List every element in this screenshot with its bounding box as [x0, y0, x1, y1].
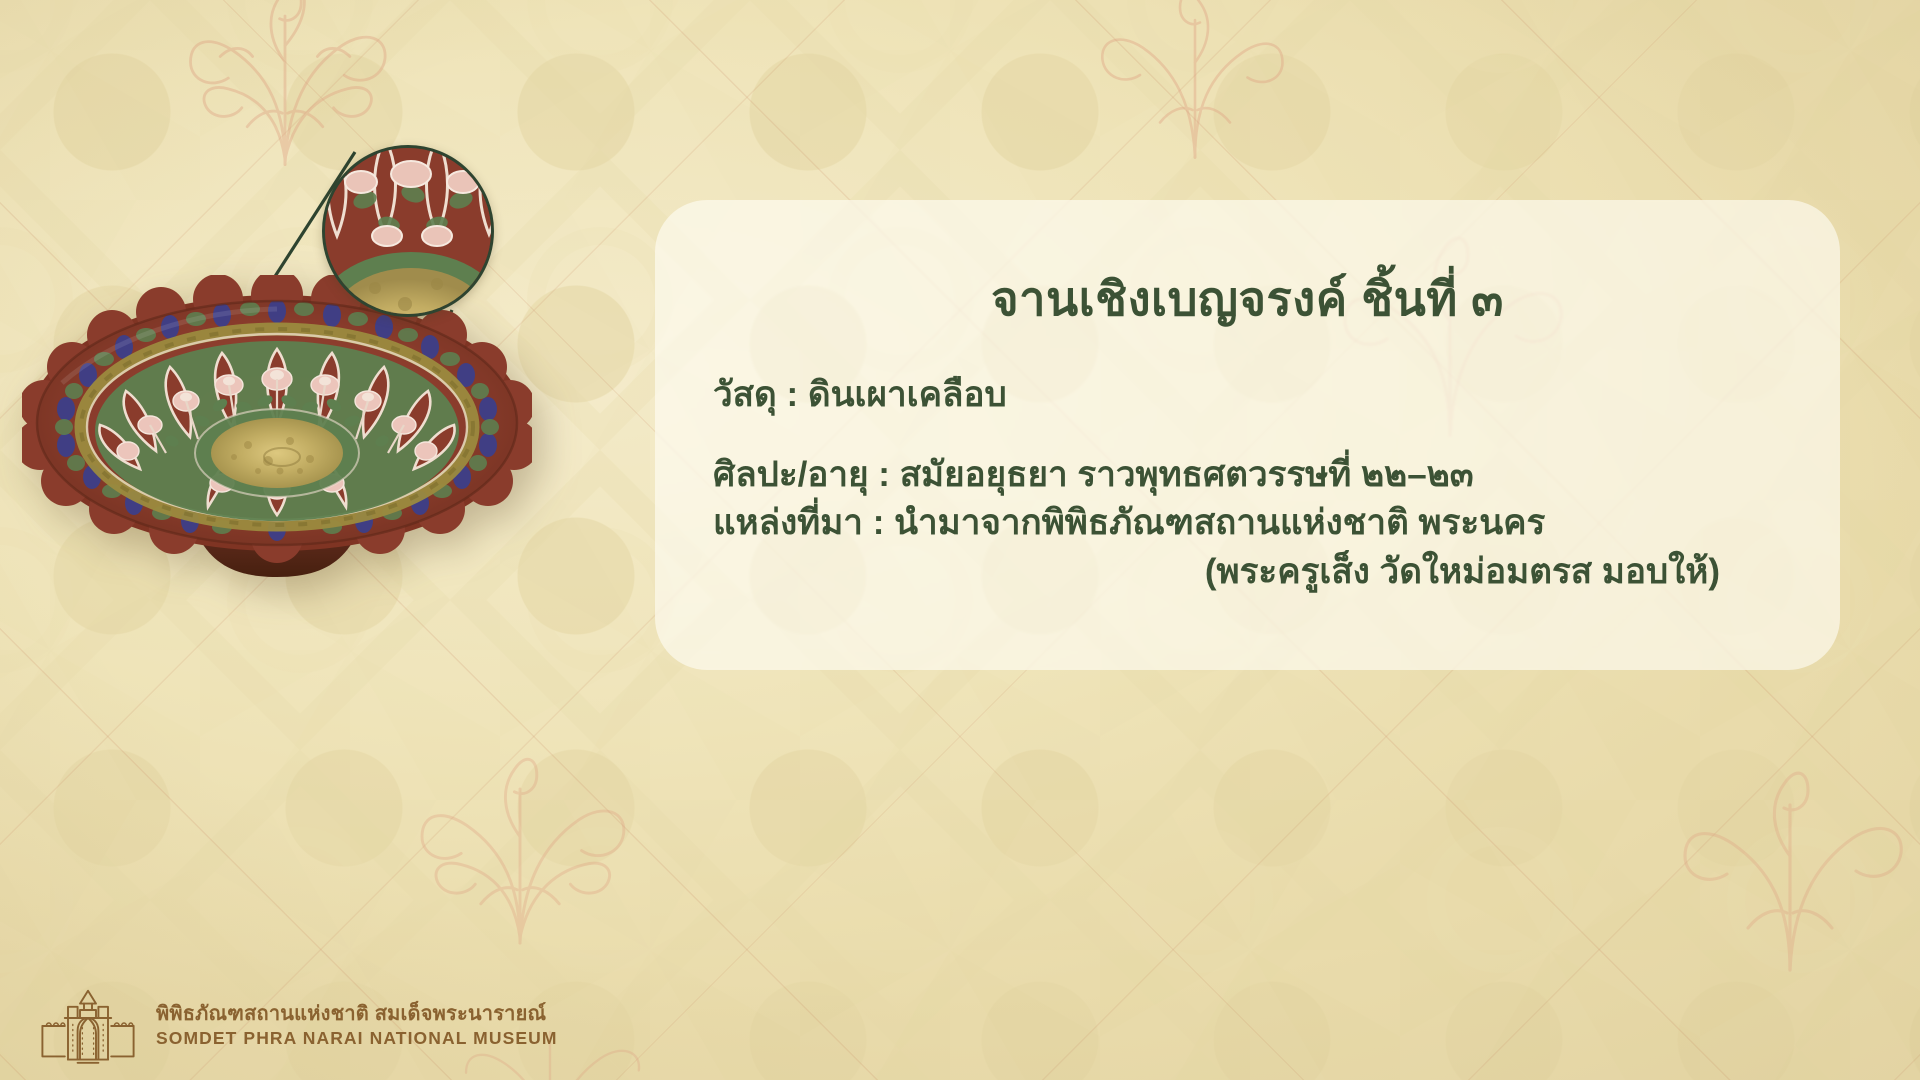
artifact-image-area [0, 60, 640, 760]
period-line: ศิลปะ/อายุ : สมัยอยุธยา ราวพุทธศตวรรษที่… [713, 451, 1782, 499]
detail-circle-content [325, 148, 494, 317]
center-medallion-detail-circle [322, 145, 494, 317]
museum-logo-text: พิพิธภัณฑสถานแห่งชาติ สมเด็จพระนารายณ์ S… [156, 1002, 558, 1050]
thai-gate-icon [36, 986, 140, 1066]
exhibit-slide: จานเชิงเบญจรงค์ ชิ้นที่ ๓ วัสดุ : ดินเผา… [0, 0, 1920, 1080]
museum-name-th: พิพิธภัณฑสถานแห่งชาติ สมเด็จพระนารายณ์ [156, 1002, 558, 1027]
benjarong-pedestal-plate-image [22, 275, 532, 605]
donor-line: (พระครูเส็ง วัดใหม่อมตรส มอบให้) [713, 548, 1782, 596]
artifact-title: จานเชิงเบญจรงค์ ชิ้นที่ ๓ [713, 270, 1782, 329]
artifact-info-card: จานเชิงเบญจรงค์ ชิ้นที่ ๓ วัสดุ : ดินเผา… [655, 200, 1840, 670]
source-line: แหล่งที่มา : นำมาจากพิพิธภัณฑสถานแห่งชาต… [713, 499, 1782, 547]
material-line: วัสดุ : ดินเผาเคลือบ [713, 371, 1782, 419]
museum-name-en: SOMDET PHRA NARAI NATIONAL MUSEUM [156, 1027, 558, 1050]
museum-logo: พิพิธภัณฑสถานแห่งชาติ สมเด็จพระนารายณ์ S… [36, 986, 558, 1066]
